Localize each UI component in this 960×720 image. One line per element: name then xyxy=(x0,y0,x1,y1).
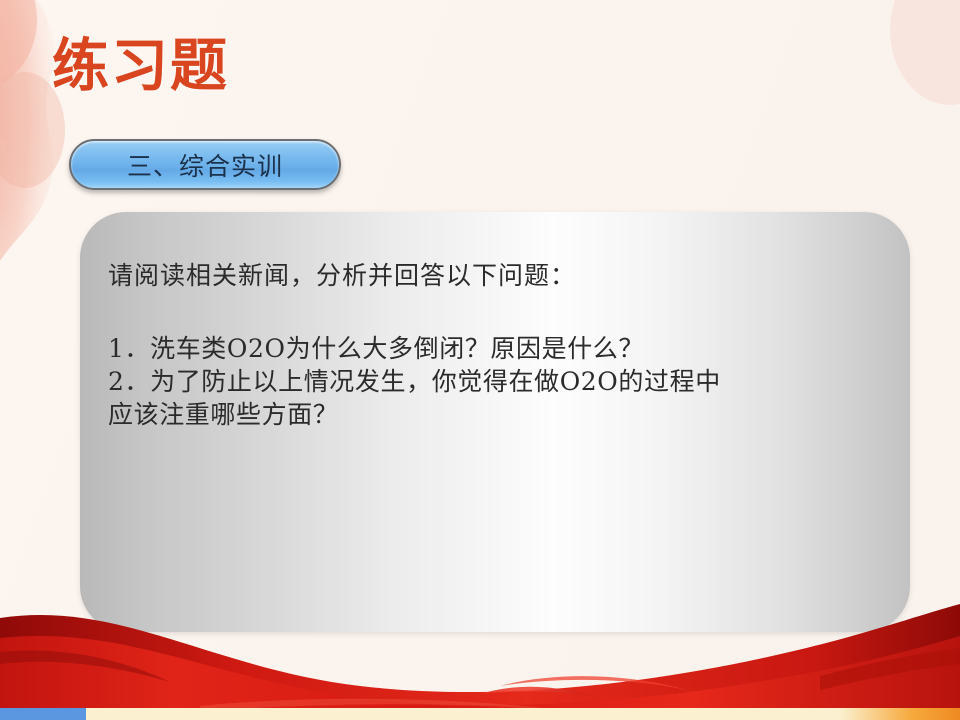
content-panel: 请阅读相关新闻，分析并回答以下问题： 1．洗车类O2O为什么大多倒闭？原因是什么… xyxy=(80,212,910,632)
question-item-1: 1．洗车类O2O为什么大多倒闭？原因是什么？ xyxy=(108,332,890,365)
question-item-2-continued: 应该注重哪些方面？ xyxy=(108,398,890,431)
bottom-orange-strip xyxy=(840,708,960,720)
content-panel-body: 请阅读相关新闻，分析并回答以下问题： 1．洗车类O2O为什么大多倒闭？原因是什么… xyxy=(108,256,890,431)
bottom-cream-strip xyxy=(0,708,960,720)
bottom-blue-tab xyxy=(0,708,86,720)
question-item-2: 2．为了防止以上情况发生，你觉得在做O2O的过程中 xyxy=(108,365,890,398)
section-button-label: 三、综合实训 xyxy=(69,139,341,190)
section-button[interactable]: 三、综合实训 xyxy=(69,139,341,190)
page-title: 练习题 xyxy=(52,38,229,95)
question-intro: 请阅读相关新闻，分析并回答以下问题： xyxy=(108,256,890,292)
slide-canvas: 练习题 三、综合实训 请阅读相关新闻，分析并回答以下问题： 1．洗车类O2O为什… xyxy=(0,0,960,720)
